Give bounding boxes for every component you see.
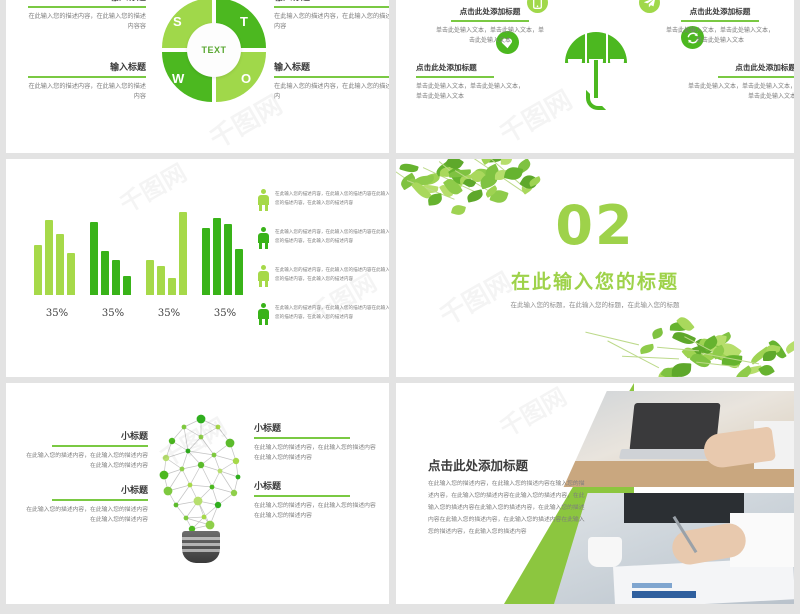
bulb-edge	[188, 451, 214, 455]
bar-chart-plot-area: 35%35%35%35%	[34, 199, 254, 319]
bar-1-3	[123, 276, 131, 295]
bulb-ring-3	[182, 549, 220, 552]
bulb-edge	[214, 455, 236, 461]
bulb-node-14	[236, 475, 241, 480]
bulb-node-8	[212, 453, 217, 458]
bulb-edge	[182, 469, 190, 485]
bar-0-0	[34, 245, 42, 295]
photo-chart-bar-1	[632, 591, 696, 598]
slide-swot[interactable]: S T W O TEXT 输入标题 在此输入您的描述内容，在此输入您的描述内容容…	[6, 0, 389, 153]
legend-row-3: 在此输入您的描述内容，在此输入您的描述内容在此输入您的描述内容，在此输入您的描述…	[258, 303, 389, 325]
swot-title-3: 输入标题	[274, 60, 389, 73]
bar-0-1	[45, 220, 53, 295]
umbrella-body-0: 单击此处输入文本，单击此输入文本，单击此处输入文本	[434, 26, 546, 46]
bulb-edge	[166, 451, 188, 458]
umbrella-rib-right	[606, 32, 608, 63]
bulb-body-1: 在此输入您的描述内容，在此输入您的描述内容在此输入您的描述内容	[24, 505, 148, 525]
bulb-node-1	[182, 425, 187, 430]
bulb-title-0: 小标题	[24, 429, 148, 442]
bulb-node-5	[226, 439, 235, 448]
bulb-node-18	[231, 490, 237, 496]
bulb-node-12	[198, 462, 204, 468]
watermark: 千图网	[492, 383, 572, 444]
umbrella-rib-left	[585, 32, 587, 63]
leaf-cluster-bottom-right	[619, 297, 794, 377]
bulb-node-20	[194, 497, 203, 506]
bulb-text-block-1: 小标题 在此输入您的描述内容，在此输入您的描述内容在此输入您的描述内容	[24, 483, 148, 525]
bar-group-3	[202, 199, 248, 295]
umbrella-rule-3	[718, 76, 794, 78]
bulb-text-block-2: 小标题 在此输入您的描述内容，在此输入您的描述内容在此输入您的描述内容	[254, 421, 378, 463]
swot-center-hub: TEXT	[187, 23, 241, 77]
bulb-rule-2	[254, 437, 350, 439]
umbrella-text-block-0: 点击此处添加标题 单击此处输入文本，单击此输入文本，单击此处输入文本	[434, 6, 546, 46]
bulb-network-svg	[146, 413, 256, 545]
umbrella-hook	[586, 90, 606, 110]
bar-group-label-3: 35%	[202, 308, 248, 319]
swot-rule-0	[28, 6, 146, 8]
person-icon-2	[258, 265, 269, 287]
bulb-node-9	[233, 458, 239, 464]
umbrella-rule-1	[681, 20, 759, 22]
umbrella-body-1: 单击此处输入文本，单击此处输入文本，单击此处输入文本	[664, 26, 776, 46]
slide-lightbulb-network[interactable]: 小标题 在此输入您的描述内容，在此输入您的描述内容在此输入您的描述内容 小标题 …	[6, 383, 389, 604]
legend-text-0: 在此输入您的描述内容，在此输入您的描述内容在此输入您的描述内容，在此输入您的描述…	[275, 191, 389, 208]
laptop-typing-photo	[554, 391, 794, 487]
bulb-node-15	[164, 487, 173, 496]
bulb-edge	[186, 517, 204, 518]
bar-group-label-2: 35%	[146, 308, 192, 319]
bar-2-3	[179, 212, 187, 295]
section-subtitle: 在此输入您的标题，在此输入您的标题，在此输入您的标题	[396, 299, 794, 309]
bulb-node-25	[206, 521, 215, 530]
swot-body-2: 在此输入您的描述内容，在此输入您的描述内容	[28, 82, 146, 101]
bar-2-1	[157, 266, 165, 295]
swot-title-2: 输入标题	[28, 60, 146, 73]
bar-group-label-0: 35%	[34, 308, 80, 319]
slide-section-divider[interactable]: 02 在此输入您的标题 在此输入您的标题，在此输入您的标题，在此输入您的标题 千…	[396, 159, 794, 377]
swot-donut-chart: S T W O TEXT	[162, 0, 266, 102]
leaf-0-1	[639, 344, 654, 355]
bulb-edge	[190, 485, 212, 487]
umbrella-title-3: 点击此处添加标题	[684, 62, 794, 73]
bulb-node-4	[199, 435, 204, 440]
bar-group-2	[146, 199, 192, 295]
swot-title-0: 输入标题	[28, 0, 146, 3]
leaf-0-3	[399, 161, 419, 174]
swot-rule-2	[28, 76, 146, 78]
bulb-edge	[188, 437, 201, 451]
paper-plane-icon[interactable]	[639, 0, 660, 13]
bar-0-2	[56, 234, 64, 295]
bulb-edge	[214, 455, 220, 471]
legend-text-3: 在此输入您的描述内容，在此输入您的描述内容在此输入您的描述内容，在此输入您的描述…	[275, 305, 389, 322]
umbrella-title-0: 点击此处添加标题	[434, 6, 546, 17]
bulb-edge	[212, 471, 220, 487]
swot-text-block-bottom-left: 输入标题 在此输入您的描述内容，在此输入您的描述内容	[28, 60, 146, 101]
swot-title-1: 输入标题	[274, 0, 389, 3]
slide-umbrella[interactable]: 点击此处添加标题 单击此处输入文本，单击此输入文本，单击此处输入文本 点击此处添…	[396, 0, 794, 153]
swot-body-0: 在此输入您的描述内容，在此输入您的描述内容容	[28, 12, 146, 31]
swot-body-3: 在此输入您的描述内容，在此输入您的描述内	[274, 82, 389, 101]
bulb-rule-3	[254, 495, 350, 497]
leaf-6-0	[784, 340, 794, 354]
legend-text-1: 在此输入您的描述内容，在此输入您的描述内容在此输入您的描述内容，在此输入您的描述…	[275, 229, 389, 246]
swot-body-1: 在此输入您的描述内容，在此输入您的描述内容	[274, 12, 389, 31]
bulb-node-10	[160, 471, 169, 480]
bulb-edge	[190, 465, 201, 485]
umbrella-title-2: 点击此处添加标题	[416, 62, 528, 73]
bulb-edge	[184, 427, 201, 437]
umbrella-text-block-1: 点击此处添加标题 单击此处输入文本，单击此处输入文本，单击此处输入文本	[664, 6, 776, 46]
swot-letter-o: O	[241, 71, 251, 86]
bar-chart-legend: 在此输入您的描述内容，在此输入您的描述内容在此输入您的描述内容，在此输入您的描述…	[258, 189, 389, 341]
bar-1-1	[101, 251, 109, 295]
bar-3-2	[224, 224, 232, 295]
leaf-2-1	[672, 363, 692, 377]
swot-text-block-bottom-right: 输入标题 在此输入您的描述内容，在此输入您的描述内	[274, 60, 389, 101]
bulb-node-21	[215, 502, 221, 508]
legend-row-1: 在此输入您的描述内容，在此输入您的描述内容在此输入您的描述内容，在此输入您的描述…	[258, 227, 389, 249]
photo-coffee-cup	[588, 537, 622, 567]
bulb-title-2: 小标题	[254, 421, 378, 434]
leaf-6-4	[763, 351, 776, 361]
bulb-edge	[220, 471, 238, 477]
bar-2-2	[168, 278, 176, 295]
swot-letter-w: W	[172, 71, 184, 86]
bulb-node-3	[169, 438, 175, 444]
slide-thumbnail-deck: S T W O TEXT 输入标题 在此输入您的描述内容，在此输入您的描述内容容…	[0, 0, 800, 614]
legend-text-2: 在此输入您的描述内容，在此输入您的描述内容在此输入您的描述内容，在此输入您的描述…	[275, 267, 389, 284]
bulb-node-16	[188, 483, 193, 488]
swot-letter-t: T	[240, 14, 248, 29]
bulb-title-3: 小标题	[254, 479, 378, 492]
swot-text-block-top-right: 输入标题 在此输入您的描述内容，在此输入您的描述内容	[274, 0, 389, 31]
umbrella-title-1: 点击此处添加标题	[664, 6, 776, 17]
bar-3-0	[202, 228, 210, 295]
swot-text-block-top-left: 输入标题 在此输入您的描述内容，在此输入您的描述内容容	[28, 0, 146, 31]
bulb-rule-0	[52, 445, 148, 447]
person-icon-3	[258, 303, 269, 325]
bulb-ring-2	[182, 543, 220, 546]
umbrella-rule-0	[451, 20, 529, 22]
bulb-rule-1	[52, 499, 148, 501]
bulb-node-7	[186, 449, 191, 454]
photo-slide-body: 在此输入您的描述内容，在此输入您的描述内容在输入您的描述内容，在此输入您的描述内…	[428, 479, 588, 538]
swot-rule-1	[274, 6, 389, 8]
photo-chart-bar-2	[632, 583, 672, 588]
bulb-text-block-3: 小标题 在此输入您的描述内容，在此输入您的描述内容在此输入您的描述内容	[254, 479, 378, 521]
bulb-node-19	[174, 503, 179, 508]
bulb-body-3: 在此输入您的描述内容，在此输入您的描述内容在此输入您的描述内容	[254, 501, 378, 521]
umbrella-body-3: 单击此处输入文本，单击此处输入文本，单击此处输入文本	[684, 82, 794, 102]
bulb-node-17	[210, 485, 215, 490]
swot-letter-s: S	[173, 14, 182, 29]
bulb-body-0: 在此输入您的描述内容，在此输入您的描述内容在此输入您的描述内容	[24, 451, 148, 471]
umbrella-text-block-2: 点击此处添加标题 单击此处输入文本，单击此处输入文本，单击此处输入文本	[416, 62, 528, 102]
umbrella-rule-2	[416, 76, 494, 78]
umbrella-notch-3	[610, 59, 624, 68]
swot-rule-3	[274, 76, 389, 78]
section-title: 在此输入您的标题	[396, 267, 794, 294]
bar-1-0	[90, 222, 98, 295]
umbrella-text-block-3: 点击此处添加标题 单击此处输入文本，单击此处输入文本，单击此处输入文本	[684, 62, 794, 102]
bulb-node-11	[180, 467, 185, 472]
bulb-edge	[184, 427, 188, 451]
bulb-node-2	[216, 425, 221, 430]
bulb-node-13	[218, 469, 223, 474]
person-icon-1	[258, 227, 269, 249]
bar-group-label-1: 35%	[90, 308, 136, 319]
leaf-twig-2	[622, 356, 679, 360]
bar-group-0	[34, 199, 80, 295]
leaf-6-3	[501, 159, 513, 165]
bulb-ring-1	[182, 537, 220, 540]
leaf-0-4	[651, 327, 664, 338]
bulb-text-block-0: 小标题 在此输入您的描述内容，在此输入您的描述内容在此输入您的描述内容	[24, 429, 148, 471]
bulb-title-1: 小标题	[24, 483, 148, 496]
bulb-edge	[182, 451, 188, 469]
bar-1-2	[112, 260, 120, 295]
bulb-node-0	[197, 415, 206, 424]
swot-center-label: TEXT	[201, 45, 226, 55]
slide-bar-chart[interactable]: 35%35%35%35% 在此输入您的描述内容，在此输入您的描述内容在此输入您的…	[6, 159, 389, 377]
leaf-0-3	[672, 328, 696, 346]
person-icon-0	[258, 189, 269, 211]
bulb-node-23	[202, 515, 207, 520]
bulb-metal-base	[182, 531, 220, 563]
bulb-node-6	[163, 455, 169, 461]
bulb-edge	[176, 505, 186, 518]
umbrella-notch-1	[568, 59, 582, 68]
bar-0-3	[67, 253, 75, 295]
section-number: 02	[396, 199, 794, 253]
bar-3-1	[213, 218, 221, 295]
bar-3-3	[235, 249, 243, 295]
meeting-notes-photo	[554, 493, 794, 604]
umbrella-icon	[565, 32, 627, 107]
slide-photo-text[interactable]: 点击此处添加标题 在此输入您的描述内容，在此输入您的描述内容在输入您的描述内容，…	[396, 383, 794, 604]
bar-2-0	[146, 260, 154, 295]
bar-group-1	[90, 199, 136, 295]
bulb-edge	[201, 427, 218, 437]
network-lightbulb-icon	[146, 413, 256, 588]
bulb-edge	[201, 437, 214, 455]
legend-row-2: 在此输入您的描述内容，在此输入您的描述内容在此输入您的描述内容，在此输入您的描述…	[258, 265, 389, 287]
bulb-node-22	[184, 516, 189, 521]
umbrella-body-2: 单击此处输入文本，单击此处输入文本，单击此处输入文本	[416, 82, 528, 102]
photo-slide-title: 点击此处添加标题	[428, 455, 528, 474]
photo-background-figure	[624, 493, 744, 523]
legend-row-0: 在此输入您的描述内容，在此输入您的描述内容在此输入您的描述内容，在此输入您的描述…	[258, 189, 389, 211]
bulb-body-2: 在此输入您的描述内容，在此输入您的描述内容在此输入您的描述内容	[254, 443, 378, 463]
